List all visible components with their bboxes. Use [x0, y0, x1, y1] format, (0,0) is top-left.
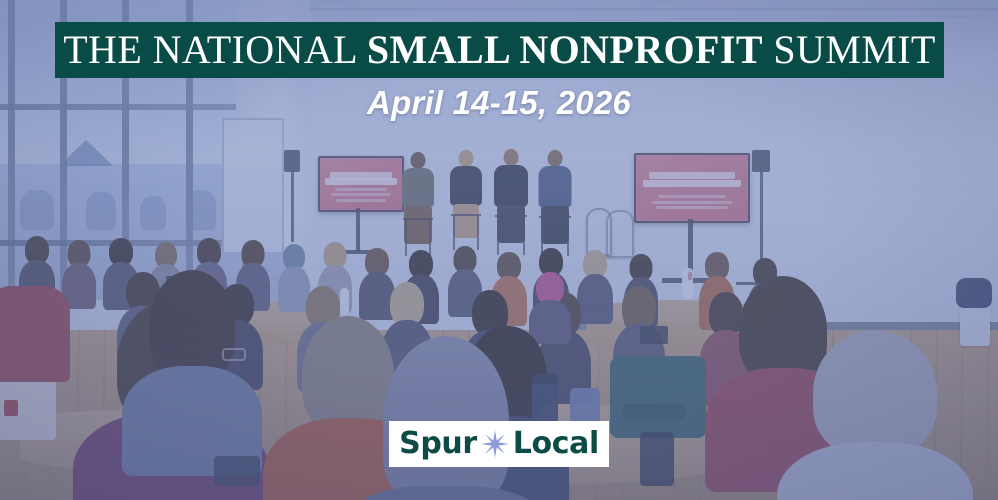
event-banner: THE NATIONAL SMALL NONPROFIT SUMMIT Apri… — [0, 0, 998, 500]
title-prefix: THE NATIONAL — [63, 27, 367, 72]
title-banner: THE NATIONAL SMALL NONPROFIT SUMMIT — [55, 22, 944, 78]
title-emphasis: SMALL NONPROFIT — [367, 27, 763, 72]
logo-word-local: Local — [513, 429, 599, 459]
spur-local-logo[interactable]: Spur Local — [389, 421, 609, 467]
title-suffix: SUMMIT — [763, 27, 936, 72]
starburst-icon — [480, 429, 510, 459]
event-date: April 14-15, 2026 — [0, 84, 998, 122]
page-title: THE NATIONAL SMALL NONPROFIT SUMMIT — [63, 30, 936, 70]
logo-word-spur: Spur — [399, 429, 477, 459]
